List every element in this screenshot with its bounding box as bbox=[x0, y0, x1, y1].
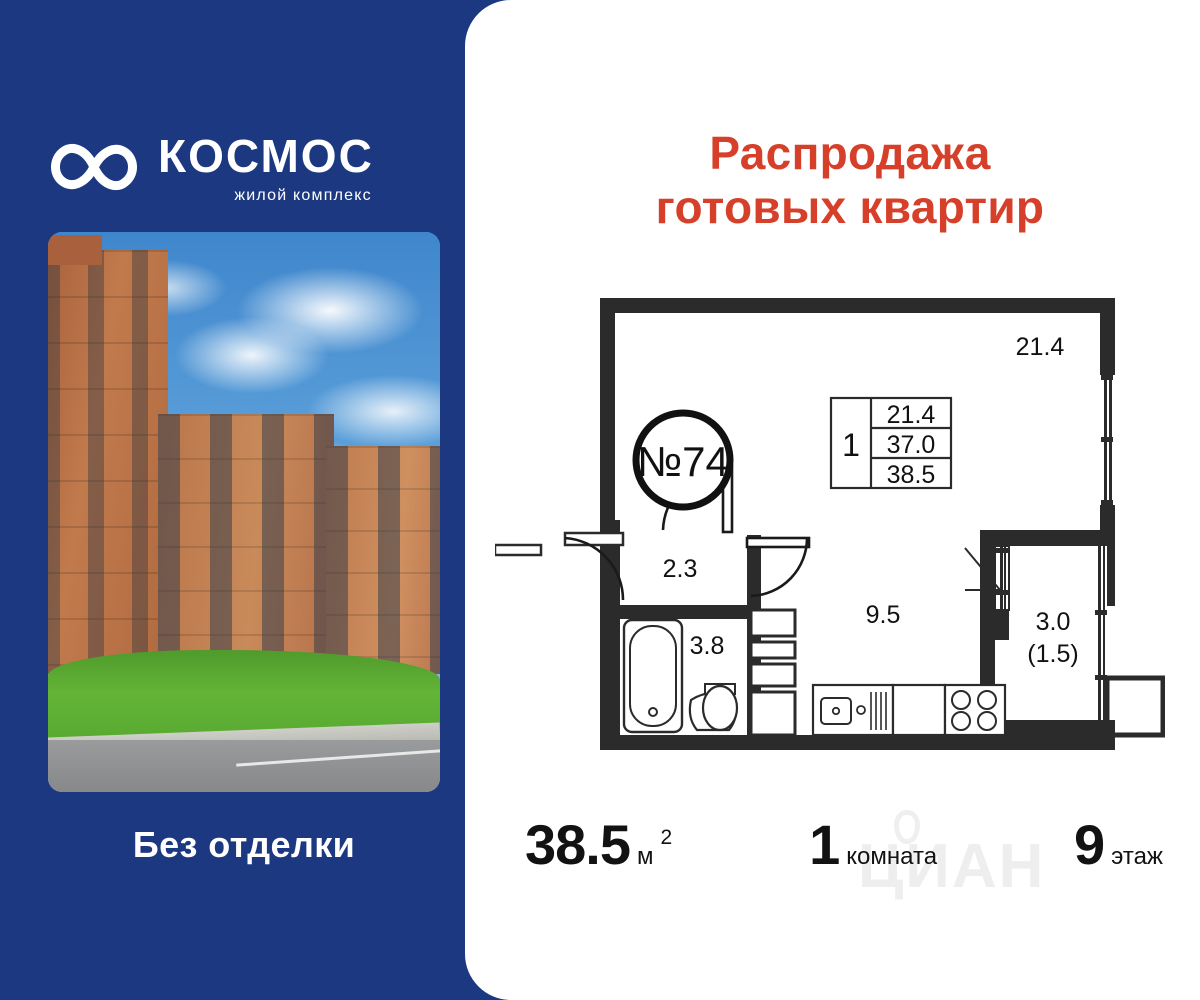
bathroom-area-label: 3.8 bbox=[690, 632, 725, 660]
summary-rooms-value: 1 bbox=[809, 812, 839, 877]
bathroom-door bbox=[751, 610, 795, 735]
kitchen-sink-icon bbox=[813, 685, 945, 735]
balcony-glazing bbox=[1095, 546, 1163, 735]
summary-rooms-label: комната bbox=[846, 843, 937, 871]
summary-floor-value: 9 bbox=[1074, 812, 1104, 877]
summary-area-unit-sup: 2 bbox=[661, 812, 673, 850]
info-total-area: 38.5 bbox=[887, 461, 936, 489]
summary-floor: 9 этаж bbox=[1074, 812, 1163, 877]
balcony-area-coefficient-label: (1.5) bbox=[1027, 640, 1078, 668]
plan-info-table: 1 21.4 37.0 38.5 bbox=[831, 398, 951, 489]
brand-logo: КОСМОС жилой комплекс bbox=[48, 122, 444, 212]
apartment-number-text: №74 bbox=[637, 438, 729, 485]
living-room-window bbox=[1100, 375, 1115, 505]
living-room-area-label: 21.4 bbox=[1016, 333, 1065, 361]
tower-roof bbox=[48, 235, 102, 265]
right-windows bbox=[326, 446, 440, 674]
summary-rooms: 1 комната bbox=[809, 812, 937, 877]
infinity-icon bbox=[48, 137, 140, 197]
summary-area-value: 38.5 bbox=[525, 812, 630, 877]
floor-plan: №74 1 21.4 37.0 38.5 21.4 2.3 3.8 9.5 3.… bbox=[495, 280, 1165, 780]
mid-windows bbox=[158, 414, 334, 674]
building-photo bbox=[48, 232, 440, 792]
info-living-area: 21.4 bbox=[887, 401, 936, 429]
summary-area: 38.5 м 2 bbox=[525, 812, 672, 877]
bathtub-icon bbox=[624, 620, 682, 732]
summary-bar: 38.5 м 2 1 комната 9 этаж bbox=[495, 812, 1185, 892]
building-block-right bbox=[326, 446, 440, 674]
finish-caption: Без отделки bbox=[48, 824, 440, 866]
summary-floor-label: этаж bbox=[1111, 843, 1163, 871]
balcony-area-label: 3.0 bbox=[1036, 608, 1071, 636]
headline: Распродажа готовых квартир bbox=[580, 126, 1120, 235]
headline-line-2: готовых квартир bbox=[580, 180, 1120, 234]
hall-area-label: 2.3 bbox=[663, 555, 698, 583]
brand-subtitle: жилой комплекс bbox=[158, 188, 374, 204]
headline-line-1: Распродажа bbox=[580, 126, 1120, 180]
toilet-icon bbox=[703, 684, 737, 730]
kitchen-area-label: 9.5 bbox=[866, 601, 901, 629]
stove-icon bbox=[945, 685, 1005, 735]
brand-name: КОСМОС bbox=[158, 133, 374, 179]
poster: КОСМОС жилой комплекс Без отделки Распро… bbox=[0, 0, 1200, 1000]
road bbox=[48, 740, 440, 792]
building-tower bbox=[48, 250, 168, 674]
building-block-mid bbox=[158, 414, 334, 674]
tower-windows bbox=[48, 250, 168, 674]
info-rooms: 1 bbox=[842, 427, 860, 463]
info-area-without-balcony: 37.0 bbox=[887, 431, 936, 459]
apartment-number-badge: №74 bbox=[636, 413, 730, 507]
summary-area-unit: м bbox=[637, 843, 654, 871]
